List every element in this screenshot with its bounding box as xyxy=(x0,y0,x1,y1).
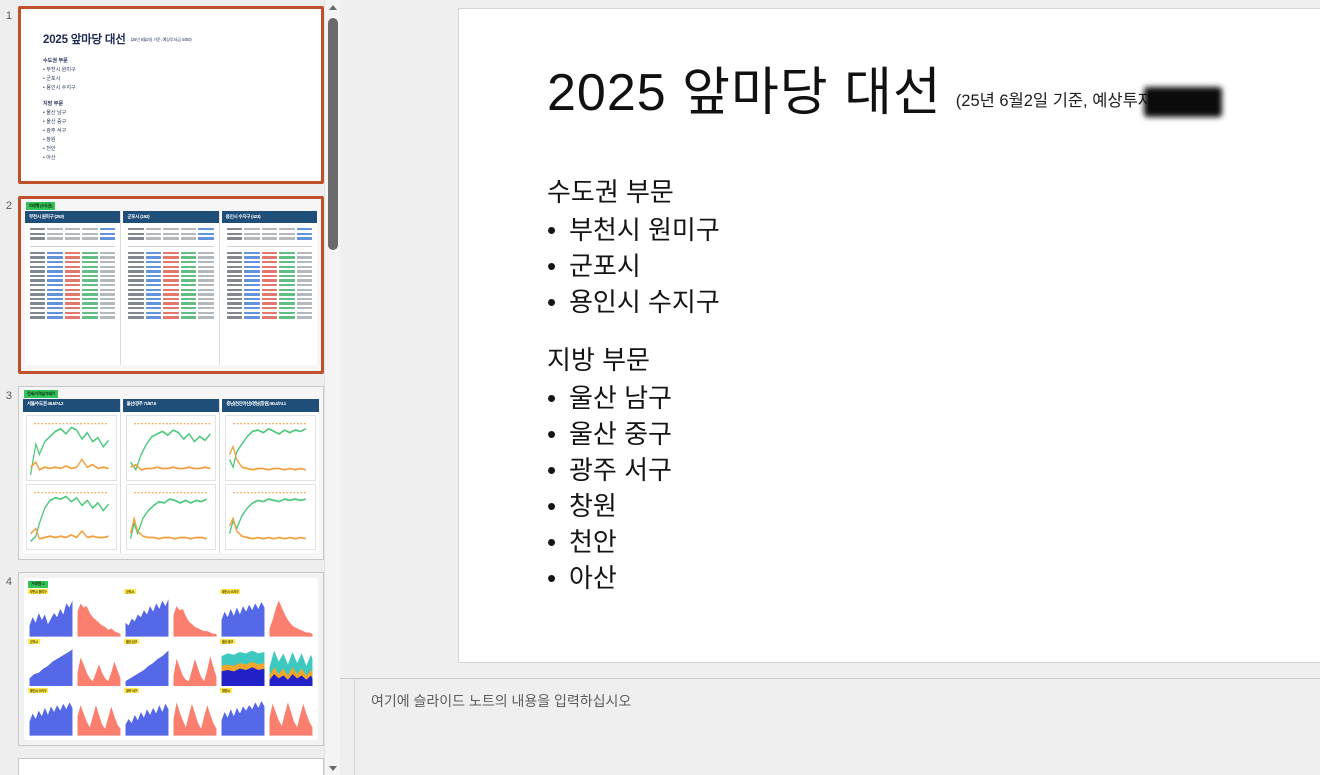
thumb-area-chart-salmon xyxy=(172,595,218,637)
bullet-label: 부천시 원미구 xyxy=(569,212,720,248)
thumb-linechart-slide: 전세/가격실거래가 서울/수도권 48.5/74.2 xyxy=(19,387,323,559)
thumb-section-heading: 지방 부문 xyxy=(43,100,76,109)
thumb-area-chart-salmon xyxy=(76,645,122,687)
thumb-group-label: 부천시 원미구 xyxy=(28,589,48,594)
bullet-label: 울산 중구 xyxy=(569,416,672,452)
thumb-list-item: • 아산 xyxy=(43,154,76,163)
thumb-table-body xyxy=(123,223,218,365)
thumb-chart-group: 울산 중구 xyxy=(220,639,314,687)
thumb-area-chart-blue xyxy=(124,595,170,637)
bullet-glyph: • xyxy=(547,380,569,416)
page-title[interactable]: 2025 앞마당 대선 xyxy=(547,67,942,119)
thumb-group-label: 군포시 xyxy=(124,589,136,594)
thumb-table-block: 부천시 원미구 (253) xyxy=(25,211,121,365)
thumb-list-item: • 천안 xyxy=(43,145,76,154)
bullet-label: 천안 xyxy=(569,524,617,560)
thumb-group-label: 용인시 수지구 xyxy=(28,688,48,693)
bullet-label: 창원 xyxy=(569,488,617,524)
thumb-chart-group: 용인시 수지구 xyxy=(28,688,122,736)
thumb-line-chart xyxy=(225,415,316,481)
bullet-glyph: • xyxy=(547,248,569,284)
bullet-glyph: • xyxy=(547,560,569,596)
thumb-area-chart-blue xyxy=(28,595,74,637)
thumb-title-text: 2025 앞마당 대선 xyxy=(43,34,126,46)
bullet-glyph: • xyxy=(547,284,569,320)
thumb-area-chart-blue xyxy=(220,595,266,637)
bullet-item: • 창원 xyxy=(547,488,1267,524)
bullet-label: 울산 남구 xyxy=(569,380,672,416)
thumb-table-slide: 미래행 (수도권) 부천시 원미구 (253) xyxy=(21,199,321,371)
thumb-chart-header: 서울/수도권 48.5/74.2 xyxy=(23,399,120,412)
scroll-up-arrow-icon[interactable] xyxy=(325,0,340,14)
slide-thumb-canvas-2: 미래행 (수도권) 부천시 원미구 (253) xyxy=(21,199,321,371)
thumb-area-chart-blue xyxy=(28,694,74,736)
slide-canvas[interactable]: 2025 앞마당 대선 (25년 6월2일 기준, 예상투자금 수도권 부문 •… xyxy=(458,8,1320,663)
thumb-chart-group: 군포시 xyxy=(28,639,122,687)
slide-thumb-frame-1[interactable]: 2025 앞마당 대선(25년 6월2일 기준, 예상투자금 ö450) 수도권… xyxy=(18,6,324,184)
bullet-glyph: • xyxy=(547,524,569,560)
thumb-line-chart xyxy=(225,484,316,550)
slide-thumb-frame-5[interactable] xyxy=(18,758,324,775)
thumb-body-1: 수도권 부문 • 부천시 원미구 • 군포시 • 용인시 수지구 지방 부문 •… xyxy=(43,57,76,163)
slide-thumb-canvas-1: 2025 앞마당 대선(25년 6월2일 기준, 예상투자금 ö450) 수도권… xyxy=(21,9,321,181)
body-placeholder[interactable]: 수도권 부문 • 부천시 원미구 • 군포시 • 용인시 수지구 지방 부문 • xyxy=(547,174,1267,596)
slide-thumbnail-5[interactable] xyxy=(0,752,340,775)
body-spacer xyxy=(547,320,1267,342)
slide-thumbnail-3[interactable]: 3 전세/가격실거래가 서울/수도권 48.5/74.2 xyxy=(0,380,340,566)
section-heading-regional: 지방 부문 xyxy=(547,342,1267,378)
scroll-down-arrow-icon[interactable] xyxy=(325,761,340,775)
bullet-item: • 아산 xyxy=(547,560,1267,596)
title-placeholder[interactable]: 2025 앞마당 대선 (25년 6월2일 기준, 예상투자금 xyxy=(547,67,1307,119)
thumb-table-body xyxy=(25,223,120,365)
bullet-item: • 부천시 원미구 xyxy=(547,212,1267,248)
thumb-tag-label: 미래행 (수도권) xyxy=(26,202,55,210)
slide-thumbnail-strip: 1 2025 앞마당 대선(25년 6월2일 기준, 예상투자금 ö450) 수… xyxy=(0,0,340,775)
presentation-editor-window: 1 2025 앞마당 대선(25년 6월2일 기준, 예상투자금 ö450) 수… xyxy=(0,0,1320,775)
thumb-area-chart-blue xyxy=(220,694,266,736)
thumb-chart-group: 부천시 원미구 xyxy=(28,589,122,637)
bullet-label: 군포시 xyxy=(569,248,641,284)
scrollbar-thumb[interactable] xyxy=(328,18,338,250)
redaction-mark xyxy=(1144,87,1222,117)
bullet-glyph: • xyxy=(547,452,569,488)
thumb-group-label: 울산 남구 xyxy=(124,639,139,644)
thumb-title-1: 2025 앞마당 대선(25년 6월2일 기준, 예상투자금 ö450) xyxy=(43,31,191,47)
thumb-chart-header: 충남(천안아산)/경남(창원) 80.4/74.1 xyxy=(222,399,319,412)
bullet-label: 아산 xyxy=(569,560,617,596)
thumb-summary-rows xyxy=(30,227,115,241)
thumb-chart-grid: 부천시 원미구 군포시 xyxy=(28,589,314,736)
thumb-spacer xyxy=(43,93,76,100)
slide-notes-pane[interactable]: 여기에 슬라이드 노트의 내용을 입력하십시오 xyxy=(340,678,1320,775)
thumb-table-block: 군포시 (192) xyxy=(123,211,219,365)
thumb-list-item: • 울산 중구 xyxy=(43,118,76,127)
slide-edit-area[interactable]: 2025 앞마당 대선 (25년 6월2일 기준, 예상투자금 수도권 부문 •… xyxy=(340,0,1320,775)
thumb-chart-group: 광주 서구 xyxy=(124,688,218,736)
thumb-area-chart-blue xyxy=(124,694,170,736)
bullet-item: • 광주 서구 xyxy=(547,452,1267,488)
slide-thumbnail-panel[interactable]: 1 2025 앞마당 대선(25년 6월2일 기준, 예상투자금 ö450) 수… xyxy=(0,0,340,775)
thumb-chart-group: 울산 남구 xyxy=(124,639,218,687)
thumb-area-chart-blue xyxy=(124,645,170,687)
thumb-areachart-slide: 거래량-1 부천시 원미구 xyxy=(19,573,323,745)
thumb-area-chart-blue xyxy=(28,645,74,687)
thumb-line-chart xyxy=(26,484,117,550)
thumb-line-chart xyxy=(126,415,217,481)
thumb-summary-rows xyxy=(227,227,312,241)
thumb-line-chart xyxy=(26,415,117,481)
section-heading-metro: 수도권 부문 xyxy=(547,174,1267,210)
slide-thumb-frame-2[interactable]: 미래행 (수도권) 부천시 원미구 (253) xyxy=(18,196,324,374)
thumb-chart-header: 울산/광주 71/87.6 xyxy=(123,399,220,412)
thumb-area-chart-salmon xyxy=(76,595,122,637)
thumb-summary-rows xyxy=(128,227,213,241)
thumb-chart-group: 군포시 xyxy=(124,589,218,637)
thumb-group-label: 울산 중구 xyxy=(220,639,235,644)
thumb-subtitle-text: (25년 6월2일 기준, 예상투자금 ö450) xyxy=(131,37,192,42)
thumb-area-chart-salmon xyxy=(172,645,218,687)
thumb-area-chart-salmon xyxy=(268,694,314,736)
edit-area-bottom-gap xyxy=(340,664,1320,678)
thumb-chart-stack xyxy=(222,412,319,553)
slide-thumb-canvas-5 xyxy=(19,759,323,775)
slide-number-1: 1 xyxy=(0,10,12,22)
bullet-glyph: • xyxy=(547,212,569,248)
bullet-label: 광주 서구 xyxy=(569,452,672,488)
slide-thumb-canvas-4: 거래량-1 부천시 원미구 xyxy=(19,573,323,745)
thumb-section-heading: 수도권 부문 xyxy=(43,57,76,66)
thumb-line-chart xyxy=(126,484,217,550)
thumb-chart-stack xyxy=(23,412,120,553)
thumb-tag-label: 거래량-1 xyxy=(28,581,48,588)
slide-number-3: 3 xyxy=(0,390,12,402)
thumb-area-chart-salmon xyxy=(76,694,122,736)
thumb-table-header: 용인시 수지구 (423) xyxy=(222,211,317,223)
bullet-item: • 울산 중구 xyxy=(547,416,1267,452)
thumb-chart-group: 창원시 xyxy=(220,688,314,736)
thumb-group-label: 군포시 xyxy=(28,639,40,644)
thumb-table-body xyxy=(222,223,317,365)
bullet-glyph: • xyxy=(547,488,569,524)
thumb-chart-block: 충남(천안아산)/경남(창원) 80.4/74.1 xyxy=(222,399,319,553)
bullet-item: • 울산 남구 xyxy=(547,380,1267,416)
notes-placeholder-text[interactable]: 여기에 슬라이드 노트의 내용을 입력하십시오 xyxy=(371,691,631,711)
thumb-tag-label: 전세/가격실거래가 xyxy=(24,390,58,398)
thumb-chart-card: 거래량-1 부천시 원미구 xyxy=(24,578,318,740)
thumb-table-header: 부천시 원미구 (253) xyxy=(25,211,120,223)
slide-panel-scrollbar[interactable] xyxy=(324,0,340,775)
thumb-list-item: • 울산 남구 xyxy=(43,109,76,118)
thumb-list-item: • 광주 서구 xyxy=(43,127,76,136)
bullet-item: • 군포시 xyxy=(547,248,1267,284)
thumb-list-item: • 창원 xyxy=(43,136,76,145)
slide-thumb-frame-4[interactable]: 거래량-1 부천시 원미구 xyxy=(18,572,324,746)
slide-number-4: 4 xyxy=(0,576,12,588)
thumb-chart-columns: 서울/수도권 48.5/74.2 xyxy=(23,399,319,553)
slide-thumbnail-1[interactable]: 1 2025 앞마당 대선(25년 6월2일 기준, 예상투자금 ö450) 수… xyxy=(0,0,340,190)
thumb-area-chart-salmon xyxy=(268,595,314,637)
thumb-chart-stack xyxy=(123,412,220,553)
bullet-label: 용인시 수지구 xyxy=(569,284,720,320)
bullet-glyph: • xyxy=(547,416,569,452)
thumb-table-columns: 부천시 원미구 (253) xyxy=(25,211,317,365)
thumb-chart-block: 울산/광주 71/87.6 xyxy=(123,399,221,553)
slide-thumb-frame-3[interactable]: 전세/가격실거래가 서울/수도권 48.5/74.2 xyxy=(18,386,324,560)
notes-left-divider xyxy=(354,679,355,775)
slide-thumbnail-2[interactable]: 2 미래행 (수도권) 부천시 원미구 (253) xyxy=(0,190,340,380)
bullet-item: • 용인시 수지구 xyxy=(547,284,1267,320)
thumb-group-label: 창원시 xyxy=(220,688,232,693)
slide-thumb-canvas-3: 전세/가격실거래가 서울/수도권 48.5/74.2 xyxy=(19,387,323,559)
thumb-area-chart-salmon xyxy=(172,694,218,736)
title-subtext-label: (25년 6월2일 기준, 예상투자금 xyxy=(956,92,1168,110)
thumb-chart-group: 용인시 수지구 xyxy=(220,589,314,637)
thumb-area-chart-stacked xyxy=(220,645,266,687)
thumb-table-header: 군포시 (192) xyxy=(123,211,218,223)
thumb-list-item: • 부천시 원미구 xyxy=(43,66,76,75)
title-subtext[interactable]: (25년 6월2일 기준, 예상투자금 xyxy=(956,87,1168,111)
thumb-area-chart-stacked xyxy=(268,645,314,687)
thumb-chart-block: 서울/수도권 48.5/74.2 xyxy=(23,399,121,553)
slide-thumbnail-4[interactable]: 4 거래량-1 부천시 원미구 xyxy=(0,566,340,752)
bullet-item: • 천안 xyxy=(547,524,1267,560)
thumb-group-label: 용인시 수지구 xyxy=(220,589,240,594)
thumb-list-item: • 용인시 수지구 xyxy=(43,84,76,93)
thumb-list-item: • 군포시 xyxy=(43,75,76,84)
thumb-table-block: 용인시 수지구 (423) xyxy=(222,211,317,365)
thumb-group-label: 광주 서구 xyxy=(124,688,139,693)
slide-number-2: 2 xyxy=(0,200,12,212)
